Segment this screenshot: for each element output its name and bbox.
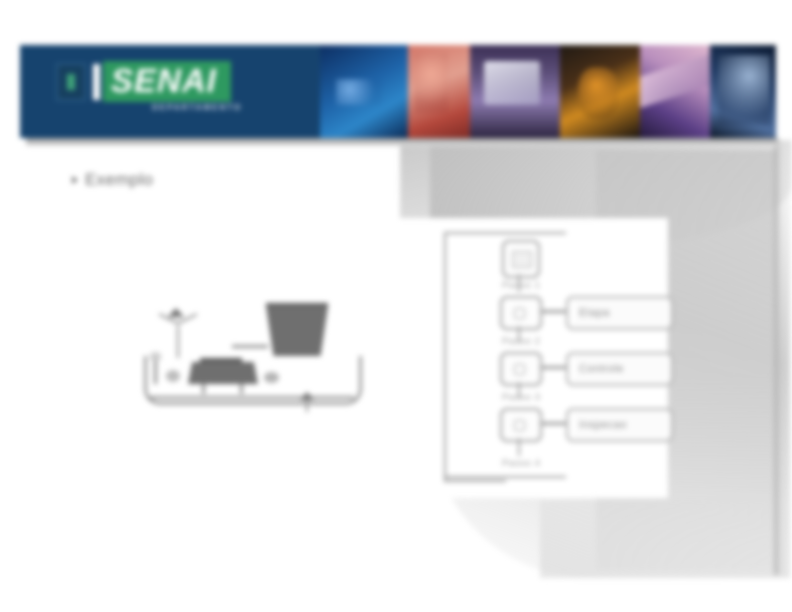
slide-blur-layer: SENAI DEPARTAMENTO Exemplo — [0, 0, 792, 612]
technical-process-illustration — [140, 300, 365, 420]
illustration-hopper-rim — [266, 303, 328, 306]
header-banner-shadow — [26, 138, 778, 146]
process-flowchart: Passo 1 ▢ Etapa Passo 2 ▢ Controle Passo… — [440, 228, 672, 490]
start-node-icon — [512, 251, 532, 268]
flowchart-loop-bottom — [444, 476, 566, 478]
illustration-hopper — [266, 306, 328, 356]
flowchart-connector-3 — [540, 422, 568, 425]
flowchart-step-caption-1: Passo 1 — [502, 280, 541, 291]
illustration-hopper-feed — [232, 345, 268, 348]
flowchart-step-caption-2: Passo 2 — [502, 336, 541, 347]
illustration-funnel-stem — [177, 326, 179, 358]
illustration-base-marker — [300, 392, 314, 400]
flowchart-output-label-1: Etapa — [579, 307, 610, 319]
flowchart-connector-2 — [540, 366, 568, 369]
senai-logo-text: SENAI — [103, 61, 231, 102]
flowchart-connector-1 — [540, 310, 568, 313]
collage-photo-pink-violet — [640, 45, 710, 138]
senai-logo: SENAI — [56, 61, 231, 102]
flowchart-output-1[interactable]: Etapa — [566, 296, 673, 330]
flowchart-step-node-3[interactable]: ▢ — [500, 408, 542, 442]
senai-logo-divider — [93, 64, 100, 100]
flowchart-output-label-3: Inspecao — [579, 419, 627, 431]
flowchart-start-node[interactable] — [502, 240, 540, 278]
flowchart-loop-top — [444, 232, 566, 234]
header-banner: SENAI DEPARTAMENTO — [20, 45, 776, 138]
flowchart-output-3[interactable]: Inspecao — [566, 408, 673, 442]
collage-photo-blue-machine — [710, 45, 776, 138]
flowchart-loop-frame — [444, 232, 506, 482]
flowchart-step-node-2[interactable]: ▢ — [500, 352, 542, 386]
flowchart-step-node-1[interactable]: ▢ — [500, 296, 542, 330]
flowchart-connector-down-3 — [518, 438, 520, 456]
senai-logo-mark-icon — [56, 63, 86, 101]
bullet-item-label: Exemplo — [85, 170, 153, 190]
collage-photo-red-figure — [408, 45, 470, 138]
process-node-icon: ▢ — [513, 305, 526, 319]
flowchart-end-caption: Passo 4 — [502, 458, 541, 469]
process-node-icon: ▢ — [513, 417, 526, 431]
process-node-icon: ▢ — [513, 361, 526, 375]
collage-photo-blue-abstract — [320, 45, 408, 138]
senai-logo-subtitle: DEPARTAMENTO — [152, 103, 242, 112]
header-logo-area: SENAI DEPARTAMENTO — [20, 45, 320, 138]
header-photo-collage — [320, 45, 776, 138]
flowchart-step-caption-3: Passo 3 — [502, 392, 541, 403]
background-swoosh-bottom — [540, 500, 790, 578]
flowchart-output-label-2: Controle — [579, 363, 624, 375]
presentation-slide: SENAI DEPARTAMENTO Exemplo — [0, 0, 792, 612]
collage-photo-lab-screen — [470, 45, 560, 138]
bullet-item: Exemplo — [72, 170, 153, 190]
slide-right-edge — [774, 140, 782, 575]
flowchart-output-2[interactable]: Controle — [566, 352, 673, 386]
illustration-arrow-head — [168, 308, 184, 317]
collage-photo-furnace-worker — [560, 45, 640, 138]
triangle-bullet-icon — [72, 176, 78, 184]
illustration-base-marker-stem — [306, 400, 308, 412]
illustration-base-line — [148, 396, 354, 399]
